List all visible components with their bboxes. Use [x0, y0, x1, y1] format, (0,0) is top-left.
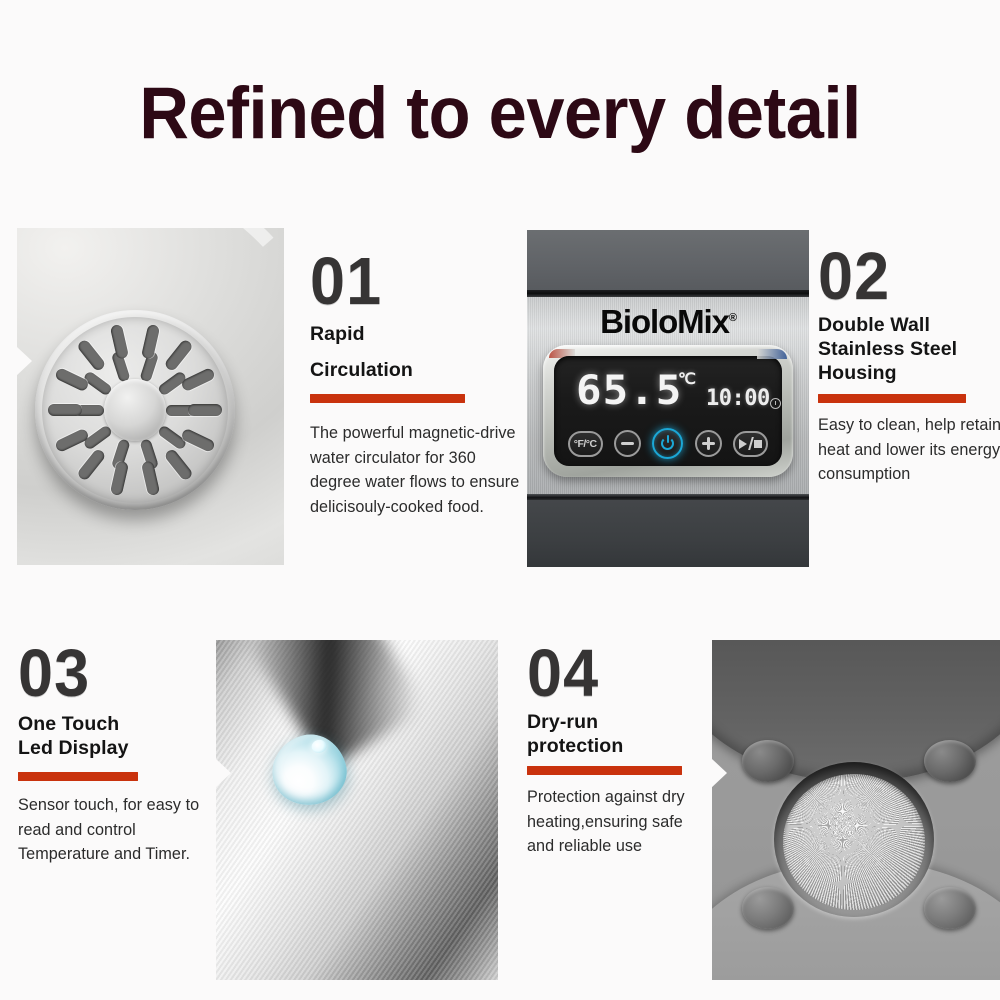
dry-run-sensor-disc [783, 774, 925, 910]
unit-toggle-icon: °F/°C [574, 438, 597, 450]
brand-logo-text: BioloMix [600, 303, 729, 340]
feature-divider-02 [818, 394, 966, 403]
timer-value: 10:00 [706, 387, 770, 411]
plus-icon [702, 437, 715, 450]
increase-button[interactable] [695, 430, 722, 457]
feature-description-01: The powerful magnetic-drive water circul… [310, 421, 522, 519]
led-readout: 65.5 ℃ 10:00 [554, 366, 782, 421]
feature-number-04: 04 [527, 640, 716, 707]
display-bezel: 65.5 ℃ 10:00 °F/°C [543, 345, 793, 477]
pump-vent-slot [54, 367, 90, 393]
feature-title-04-line2: protection [527, 734, 707, 758]
decrease-button[interactable] [614, 430, 641, 457]
pump-vent-slot [48, 404, 82, 416]
feature-divider-03 [18, 772, 138, 781]
page-title: Refined to every detail [30, 72, 970, 156]
feature-description-04: Protection against dry heating,ensuring … [527, 785, 707, 859]
pump-vent-slot [180, 428, 216, 454]
feature-block-01: 01 Rapid Circulation The powerful magnet… [310, 248, 522, 519]
feature-divider-01 [310, 394, 465, 403]
minus-icon [621, 442, 634, 445]
feature-title-01-line2: Circulation [310, 358, 522, 382]
pump-vent-slot [76, 338, 107, 372]
panel-notch-arrow [216, 758, 231, 788]
button-row: °F/°C [554, 428, 782, 459]
registered-trademark-icon: ® [729, 312, 736, 324]
pump-vent-slot [188, 404, 222, 416]
brand-logo: BioloMix® [527, 301, 809, 339]
feature-image-rapid-circulation [17, 228, 284, 565]
panel-notch-arrow [712, 758, 727, 788]
feature-block-03: 03 One Touch Led Display Sensor touch, f… [18, 640, 213, 867]
feature-image-control-panel: BioloMix® 65.5 ℃ 10:00 °F/°C [527, 230, 809, 567]
pump-vent-slot [180, 367, 216, 393]
feature-block-04: 04 Dry-run protection Protection against… [527, 640, 707, 859]
pump-intake-cap [35, 310, 235, 510]
feature-title-03-line2: Led Display [18, 736, 213, 760]
clock-icon [770, 398, 781, 409]
feature-divider-04 [527, 766, 682, 775]
feature-title-01-line1: Rapid [310, 322, 522, 346]
power-button[interactable] [652, 428, 683, 459]
panel-notch-arrow [17, 346, 32, 376]
pump-vent-slot [163, 448, 194, 482]
start-stop-button[interactable] [733, 431, 768, 457]
sensor-bump [742, 887, 794, 929]
pump-vent-slot [54, 428, 90, 454]
feature-block-02: 02 Double Wall Stainless Steel Housing E… [818, 243, 1000, 487]
feature-title-02-line2: Stainless Steel [818, 337, 1000, 361]
feature-title-03-line1: One Touch [18, 712, 213, 736]
feature-number-02: 02 [818, 243, 1000, 310]
housing-bottom-band [527, 500, 809, 567]
feature-image-dry-run-sensor [712, 640, 1000, 980]
pump-vent-slot [76, 448, 107, 482]
feature-title-02-line3: Housing [818, 361, 1000, 385]
housing-top-seam [527, 290, 809, 297]
feature-description-03: Sensor touch, for easy to read and contr… [18, 793, 213, 867]
power-icon [661, 437, 674, 450]
feature-title-04-line1: Dry-run [527, 710, 707, 734]
sensor-bump [742, 740, 794, 782]
feature-number-03: 03 [18, 640, 223, 707]
unit-toggle-button[interactable]: °F/°C [568, 431, 603, 457]
led-display-screen[interactable]: 65.5 ℃ 10:00 °F/°C [554, 356, 782, 466]
feature-description-02: Easy to clean, help retain heat and lowe… [818, 413, 1000, 487]
temperature-value: 65.5 [576, 370, 682, 412]
housing-top-band [527, 230, 809, 290]
pump-hub [104, 379, 166, 441]
feature-title-02-line1: Double Wall [818, 313, 1000, 337]
sensor-bump [924, 740, 976, 782]
temperature-unit: ℃ [678, 372, 696, 388]
sensor-well [774, 762, 934, 917]
feature-number-01: 01 [310, 248, 533, 315]
feature-image-water-droplet [216, 640, 498, 980]
pump-vent-slot [163, 338, 194, 372]
sensor-bump [924, 887, 976, 929]
play-stop-icon [739, 437, 762, 450]
